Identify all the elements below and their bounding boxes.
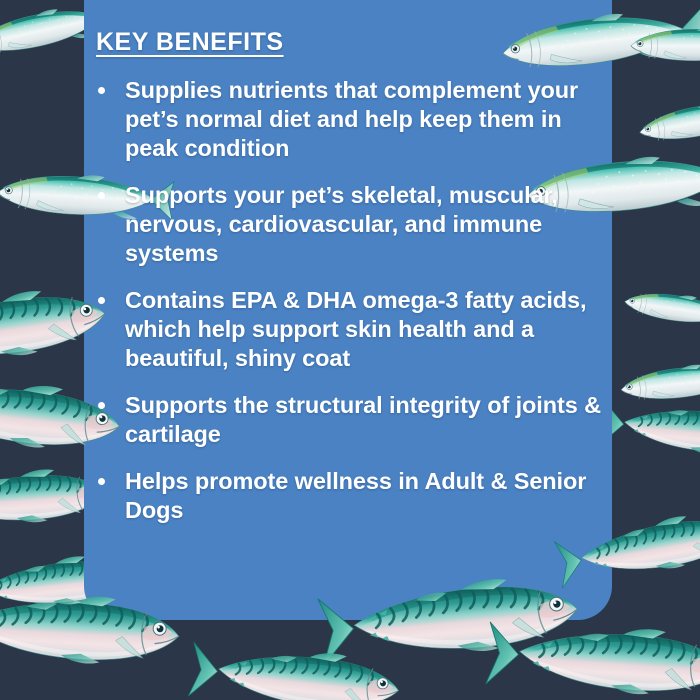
bullet-dot-icon — [98, 402, 105, 409]
benefit-text: Supports the structural integrity of joi… — [125, 391, 612, 449]
benefit-text: Contains EPA & DHA omega-3 fatty acids, … — [125, 286, 612, 373]
benefit-text: Supports your pet’s skeletal, muscular, … — [125, 181, 612, 268]
card-content: KEY BENEFITS Supplies nutrients that com… — [84, 0, 612, 620]
list-item: Supports your pet’s skeletal, muscular, … — [96, 181, 612, 268]
bullet-dot-icon — [98, 297, 105, 304]
list-item: Helps promote wellness in Adult & Senior… — [96, 467, 612, 525]
bullet-dot-icon — [98, 192, 105, 199]
list-item: Supports the structural integrity of joi… — [96, 391, 612, 449]
benefit-text: Supplies nutrients that complement your … — [125, 76, 612, 163]
sardine-fish-icon — [637, 92, 700, 148]
list-item: Contains EPA & DHA omega-3 fatty acids, … — [96, 286, 612, 373]
page-title: KEY BENEFITS — [96, 28, 284, 57]
sardine-fish-icon — [619, 358, 700, 405]
benefit-text: Helps promote wellness in Adult & Senior… — [125, 467, 612, 525]
benefits-list: Supplies nutrients that complement your … — [96, 76, 612, 543]
key-benefits-card: KEY BENEFITS Supplies nutrients that com… — [84, 0, 612, 620]
bullet-dot-icon — [98, 478, 105, 485]
sardine-fish-icon — [623, 287, 700, 331]
list-item: Supplies nutrients that complement your … — [96, 76, 612, 163]
mackerel-fish-icon — [188, 639, 401, 700]
bullet-dot-icon — [98, 87, 105, 94]
key-benefits-panel-image: KEY BENEFITS Supplies nutrients that com… — [0, 0, 700, 700]
mackerel-fish-icon — [600, 398, 700, 460]
